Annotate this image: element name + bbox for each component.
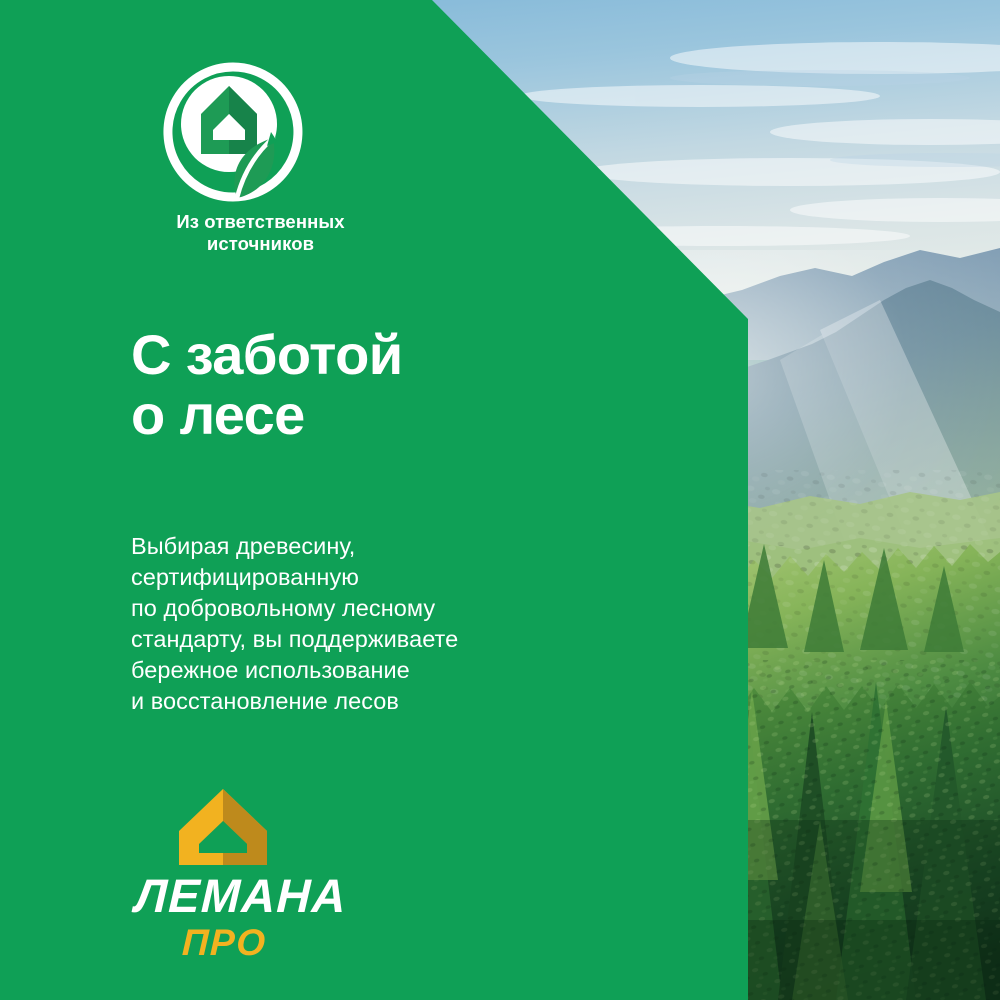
responsible-sources-caption: Из ответственных источников bbox=[128, 211, 393, 254]
poster-root: Из ответственных источников С заботой о … bbox=[0, 0, 1000, 1000]
body-copy: Выбирая древесину, сертифицированную по … bbox=[131, 531, 458, 717]
badge-caption-line-2: источников bbox=[128, 233, 393, 255]
lemana-wordmark: ЛЕМАНА bbox=[134, 872, 336, 919]
responsible-sources-badge: Из ответственных источников bbox=[128, 62, 398, 254]
responsible-sources-emblem-icon bbox=[163, 62, 303, 202]
lemana-house-icon bbox=[177, 787, 269, 865]
badge-caption-line-1: Из ответственных bbox=[128, 211, 393, 233]
lemana-pro-logo: ЛЕМАНА ПРО bbox=[135, 787, 335, 961]
pro-wordmark: ПРО bbox=[181, 924, 335, 961]
poster-content: Из ответственных источников С заботой о … bbox=[0, 0, 1000, 1000]
headline: С заботой о лесе bbox=[131, 325, 403, 445]
